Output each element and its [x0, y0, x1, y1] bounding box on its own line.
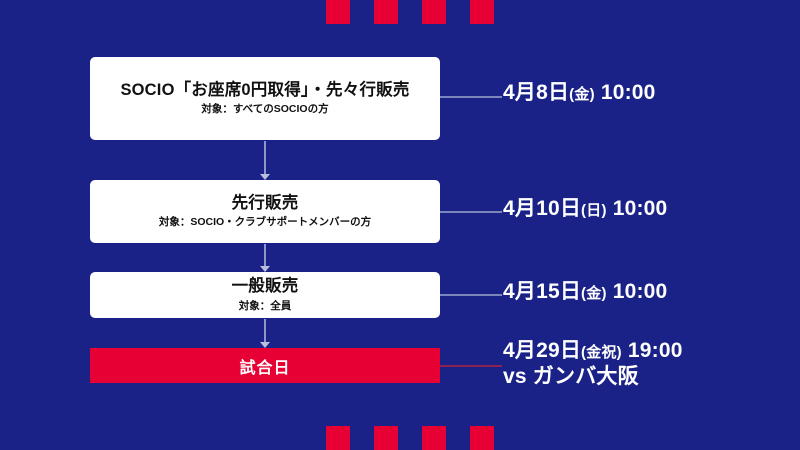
decorative-dash — [374, 0, 398, 24]
top-decorative-dash-row — [0, 0, 800, 24]
decorative-dash — [374, 426, 398, 450]
flow-step-subtitle: 対象：SOCIO・クラブサポートメンバーの方 — [159, 216, 371, 230]
weekday-value: (金) — [581, 285, 607, 302]
decorative-dash — [422, 426, 446, 450]
date-value: 4月29日 — [503, 339, 581, 362]
flow-step-title: 一般販売 — [232, 276, 299, 297]
down-arrow-icon — [264, 319, 266, 347]
decorative-dash — [422, 0, 446, 24]
date-value: 4月15日 — [503, 280, 581, 303]
matchday-label: 試合日 — [239, 354, 290, 378]
flow-step-socio-free-seat: SOCIO「お座席0円取得」・先々行販売 対象：すべてのSOCIOの方 — [90, 57, 440, 140]
leader-line — [440, 294, 502, 296]
bottom-decorative-dash-row — [0, 426, 800, 450]
flow-step-subtitle: 対象：全員 — [239, 300, 292, 314]
date-line: 4月8日(金) 10:00 — [503, 80, 656, 106]
weekday-value: (金祝) — [581, 344, 622, 361]
flow-step-subtitle: 対象：すべてのSOCIOの方 — [201, 103, 328, 117]
date-label-general-sale: 4月15日(金) 10:00 — [503, 279, 667, 305]
time-value: 10:00 — [601, 81, 656, 104]
date-value: 4月10日 — [503, 197, 581, 220]
date-line: 4月10日(日) 10:00 — [503, 196, 667, 222]
infographic-canvas: SOCIO「お座席0円取得」・先々行販売 対象：すべてのSOCIOの方 先行販売… — [0, 0, 800, 450]
leader-line — [440, 365, 502, 367]
decorative-dash — [470, 0, 494, 24]
decorative-dash — [326, 426, 350, 450]
matchday-bar: 試合日 — [90, 348, 440, 383]
time-value: 10:00 — [613, 280, 668, 303]
leader-line — [440, 96, 502, 98]
flow-step-title: SOCIO「お座席0円取得」・先々行販売 — [120, 80, 409, 101]
opponent-line: vs ガンバ大阪 — [503, 364, 683, 390]
date-value: 4月8日 — [503, 81, 569, 104]
flow-step-general-sale: 一般販売 対象：全員 — [90, 272, 440, 318]
decorative-dash — [470, 426, 494, 450]
weekday-value: (日) — [581, 202, 607, 219]
flow-step-title: 先行販売 — [232, 193, 299, 214]
down-arrow-icon — [264, 141, 266, 179]
date-label-advance-sale: 4月10日(日) 10:00 — [503, 196, 667, 222]
time-value: 10:00 — [613, 197, 668, 220]
date-label-matchday: 4月29日(金祝) 19:00 vs ガンバ大阪 — [503, 338, 683, 389]
flow-step-advance-sale: 先行販売 対象：SOCIO・クラブサポートメンバーの方 — [90, 180, 440, 243]
weekday-value: (金) — [569, 86, 595, 103]
leader-line — [440, 211, 502, 213]
date-label-socio-free-seat: 4月8日(金) 10:00 — [503, 80, 656, 106]
date-line: 4月29日(金祝) 19:00 — [503, 338, 683, 364]
down-arrow-icon — [264, 244, 266, 271]
date-line: 4月15日(金) 10:00 — [503, 279, 667, 305]
time-value: 19:00 — [628, 339, 683, 362]
decorative-dash — [326, 0, 350, 24]
